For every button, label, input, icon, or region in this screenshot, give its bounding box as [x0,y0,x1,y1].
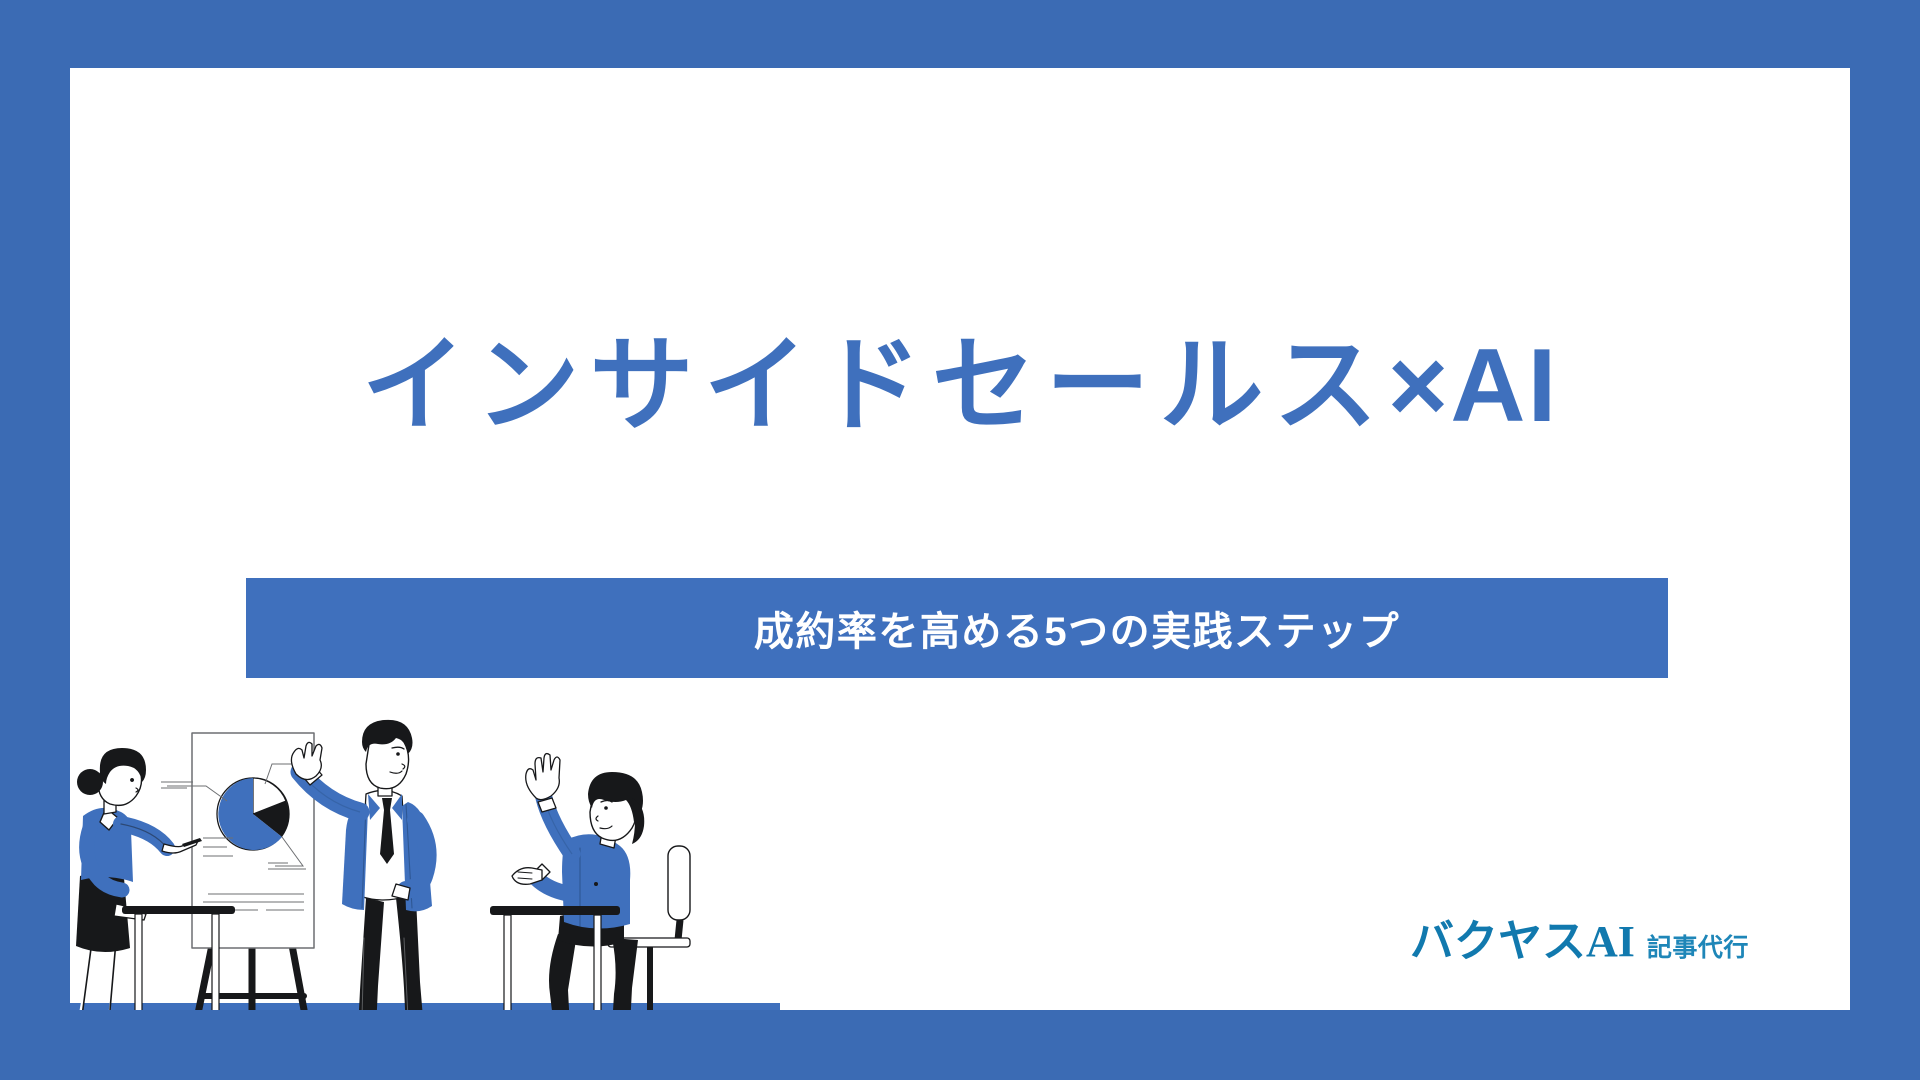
logo-service-name: 記事代行 [1647,936,1749,964]
page-title: インサイドセールス×AI [362,330,1559,442]
subtitle-band: 成約率を高める5つの実践ステップ [246,578,1668,678]
standing-desk-left [122,906,235,1010]
illustration-svg: .bl{fill:#3f70bd} .bk{fill:#17181a} .wh{… [70,698,780,1010]
slide-canvas: .bl{fill:#3f70bd} .bk{fill:#17181a} .wh{… [0,0,1920,1080]
seated-man-raising-hand [512,754,644,1010]
brand-logo: バクヤスAI 記事代行 [1410,920,1749,964]
business-team-illustration: .bl{fill:#3f70bd} .bk{fill:#17181a} .wh{… [70,698,780,1010]
title-block: インサイドセールス×AI [70,330,1850,442]
slide-white-card: .bl{fill:#3f70bd} .bk{fill:#17181a} .wh{… [70,68,1850,1010]
pie-chart [217,778,289,850]
logo-brand-name: バクヤスAI [1410,920,1635,964]
subtitle-text: 成約率を高める5つの実践ステップ [246,578,1668,678]
floor-strip [70,1003,780,1010]
title-separator: × [1388,328,1451,444]
title-japanese: インサイドセールス [362,328,1388,444]
title-ai: AI [1450,328,1558,444]
